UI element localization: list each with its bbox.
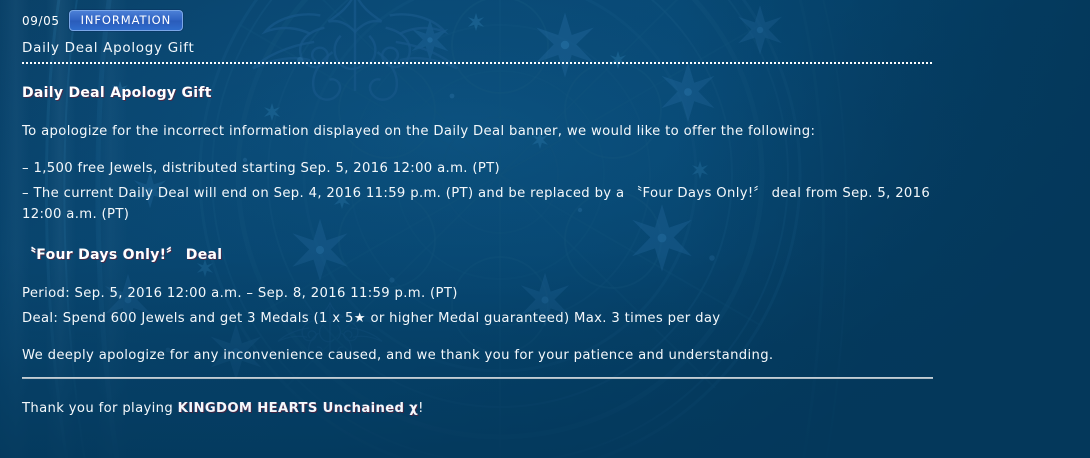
paragraph-intro: To apologize for the incorrect informati… (22, 121, 952, 142)
heading-apology-gift: Daily Deal Apology Gift (22, 85, 952, 101)
paragraph-closing-apology: We deeply apologize for any inconvenienc… (22, 345, 952, 366)
footer-game-title: KINGDOM HEARTS Unchained χ (178, 401, 418, 416)
notice-meta-row: 09/05 INFORMATION (22, 10, 183, 31)
category-badge-information: INFORMATION (69, 10, 184, 31)
background-fade-overlay (0, 0, 1090, 458)
divider-dotted (22, 62, 933, 64)
footer-suffix-text: ! (418, 401, 424, 416)
notice-date: 09/05 (22, 15, 60, 27)
background-stained-glass-art (0, 0, 1090, 458)
footer-thank-you: Thank you for playing KINGDOM HEARTS Unc… (22, 398, 952, 419)
deal-details: Deal: Spend 600 Jewels and get 3 Medals … (22, 308, 952, 329)
notice-subject: Daily Deal Apology Gift (22, 40, 195, 56)
bullet-jewels: – 1,500 free Jewels, distributed startin… (22, 158, 952, 179)
footer-prefix-text: Thank you for playing (22, 401, 178, 416)
heading-four-days-only-deal: 〝Four Days Only!〞 Deal (22, 244, 952, 264)
divider-solid (22, 377, 933, 379)
background-light-bands (0, 0, 340, 458)
bullet-daily-deal-replacement: – The current Daily Deal will end on Sep… (22, 183, 934, 226)
deal-period: Period: Sep. 5, 2016 12:00 a.m. – Sep. 8… (22, 283, 952, 304)
